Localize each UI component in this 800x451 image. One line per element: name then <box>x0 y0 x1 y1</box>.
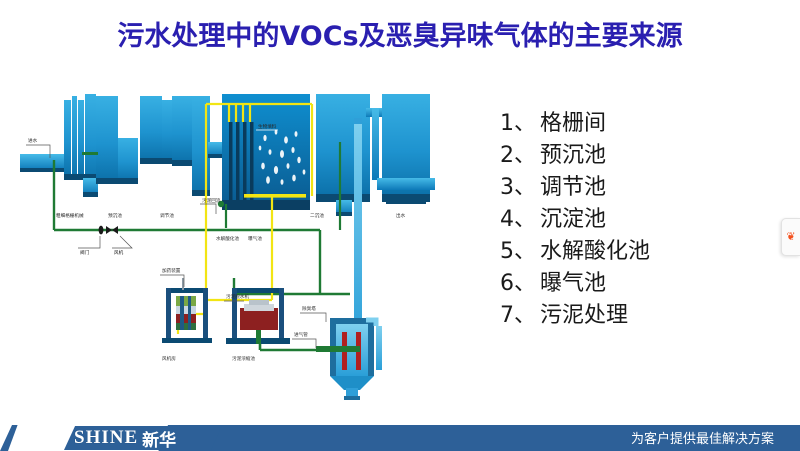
inlet-channel <box>20 154 66 172</box>
list-item: 2、预沉池 <box>500 140 780 172</box>
label-dosing: 加药装置 <box>162 267 181 274</box>
list-item-number: 1、 <box>500 111 536 136</box>
label-valve-2: 风机 <box>114 249 124 256</box>
label-regulate: 调节池 <box>160 212 174 219</box>
feed-header <box>316 346 360 352</box>
list-item-number: 5、 <box>500 239 536 264</box>
label-sludge-tank: 污泥浓缩池 <box>232 355 255 362</box>
list-item-label: 沉淀池 <box>540 207 606 232</box>
deodorization-tower <box>330 318 382 400</box>
page-title: 污水处理中的VOCs及恶臭异味气体的主要来源 <box>0 14 800 53</box>
list-item-label: 污泥处理 <box>540 303 628 328</box>
list-item-label: 调节池 <box>540 175 606 200</box>
blue-gas-riser <box>354 118 362 350</box>
list-item: 3、调节池 <box>500 172 780 204</box>
list-item-label: 水解酸化池 <box>540 239 650 264</box>
label-effluent: 出水 <box>396 212 406 219</box>
screen-grille-unit <box>64 94 98 197</box>
label-aeration-inner: 生物填料 <box>258 123 277 130</box>
list-item-number: 3、 <box>500 175 536 200</box>
list-item-number: 2、 <box>500 143 536 168</box>
label-dewater: 污泥脱水机 <box>226 293 249 300</box>
label-hydrolysis: 水解酸化池 <box>216 235 239 242</box>
list-item-label: 格栅间 <box>540 111 606 136</box>
secondary-clarifier <box>316 94 382 216</box>
dosing-unit <box>162 278 212 343</box>
pre-settling-tank <box>96 96 138 184</box>
list-item-number: 7、 <box>500 303 536 328</box>
label-aeration: 曝气池 <box>248 235 262 242</box>
list-item-label: 曝气池 <box>540 271 606 296</box>
label-pre-settle: 预沉池 <box>108 212 122 219</box>
label-sludge-pipe: 污泥回流 <box>202 197 221 204</box>
list-item-number: 6、 <box>500 271 536 296</box>
label-blower: 风机房 <box>162 355 176 362</box>
list-item-number: 4、 <box>500 207 536 232</box>
effluent-tank <box>377 94 435 204</box>
slide-canvas: 污水处理中的VOCs及恶臭异味气体的主要来源 <box>0 0 800 451</box>
flame-icon: ❦ <box>786 232 795 243</box>
regulating-tank <box>140 96 194 166</box>
list-item: 6、曝气池 <box>500 268 780 300</box>
transfer-box <box>192 96 224 196</box>
list-item: 1、格栅间 <box>500 108 780 140</box>
label-inlet: 进水 <box>28 137 38 144</box>
list-item-label: 预沉池 <box>540 143 606 168</box>
list-item: 7、污泥处理 <box>500 300 780 332</box>
list-item: 4、沉淀池 <box>500 204 780 236</box>
side-widget-button[interactable]: ❦ <box>781 218 800 256</box>
brand-logo-en: SHINE <box>74 427 138 449</box>
label-deodor-feed: 进气管 <box>294 331 308 338</box>
footer: SHINE 新华 为客户提供最佳解决方案 <box>0 425 800 451</box>
label-valve-1: 阀门 <box>80 249 90 256</box>
source-list: 1、格栅间 2、预沉池 3、调节池 4、沉淀池 5、水解酸化池 6、曝气池 7、… <box>500 108 780 332</box>
label-secondary: 二沉池 <box>310 212 324 219</box>
list-item: 5、水解酸化池 <box>500 236 780 268</box>
green-branch <box>82 152 98 155</box>
footer-tagline: 为客户提供最佳解决方案 <box>631 428 774 447</box>
label-grille: 粗细格栅机械 <box>56 212 84 219</box>
label-deodor: 除臭塔 <box>302 305 316 312</box>
valve-symbols <box>99 226 118 235</box>
process-flow-diagram: 进水 粗细格栅机械 预沉池 调节池 水解酸化池 曝气池 二沉池 出水 生物填料 … <box>20 82 480 402</box>
brand-logo-cn: 新华 <box>142 426 176 451</box>
brand-logo: SHINE 新华 <box>74 427 176 449</box>
